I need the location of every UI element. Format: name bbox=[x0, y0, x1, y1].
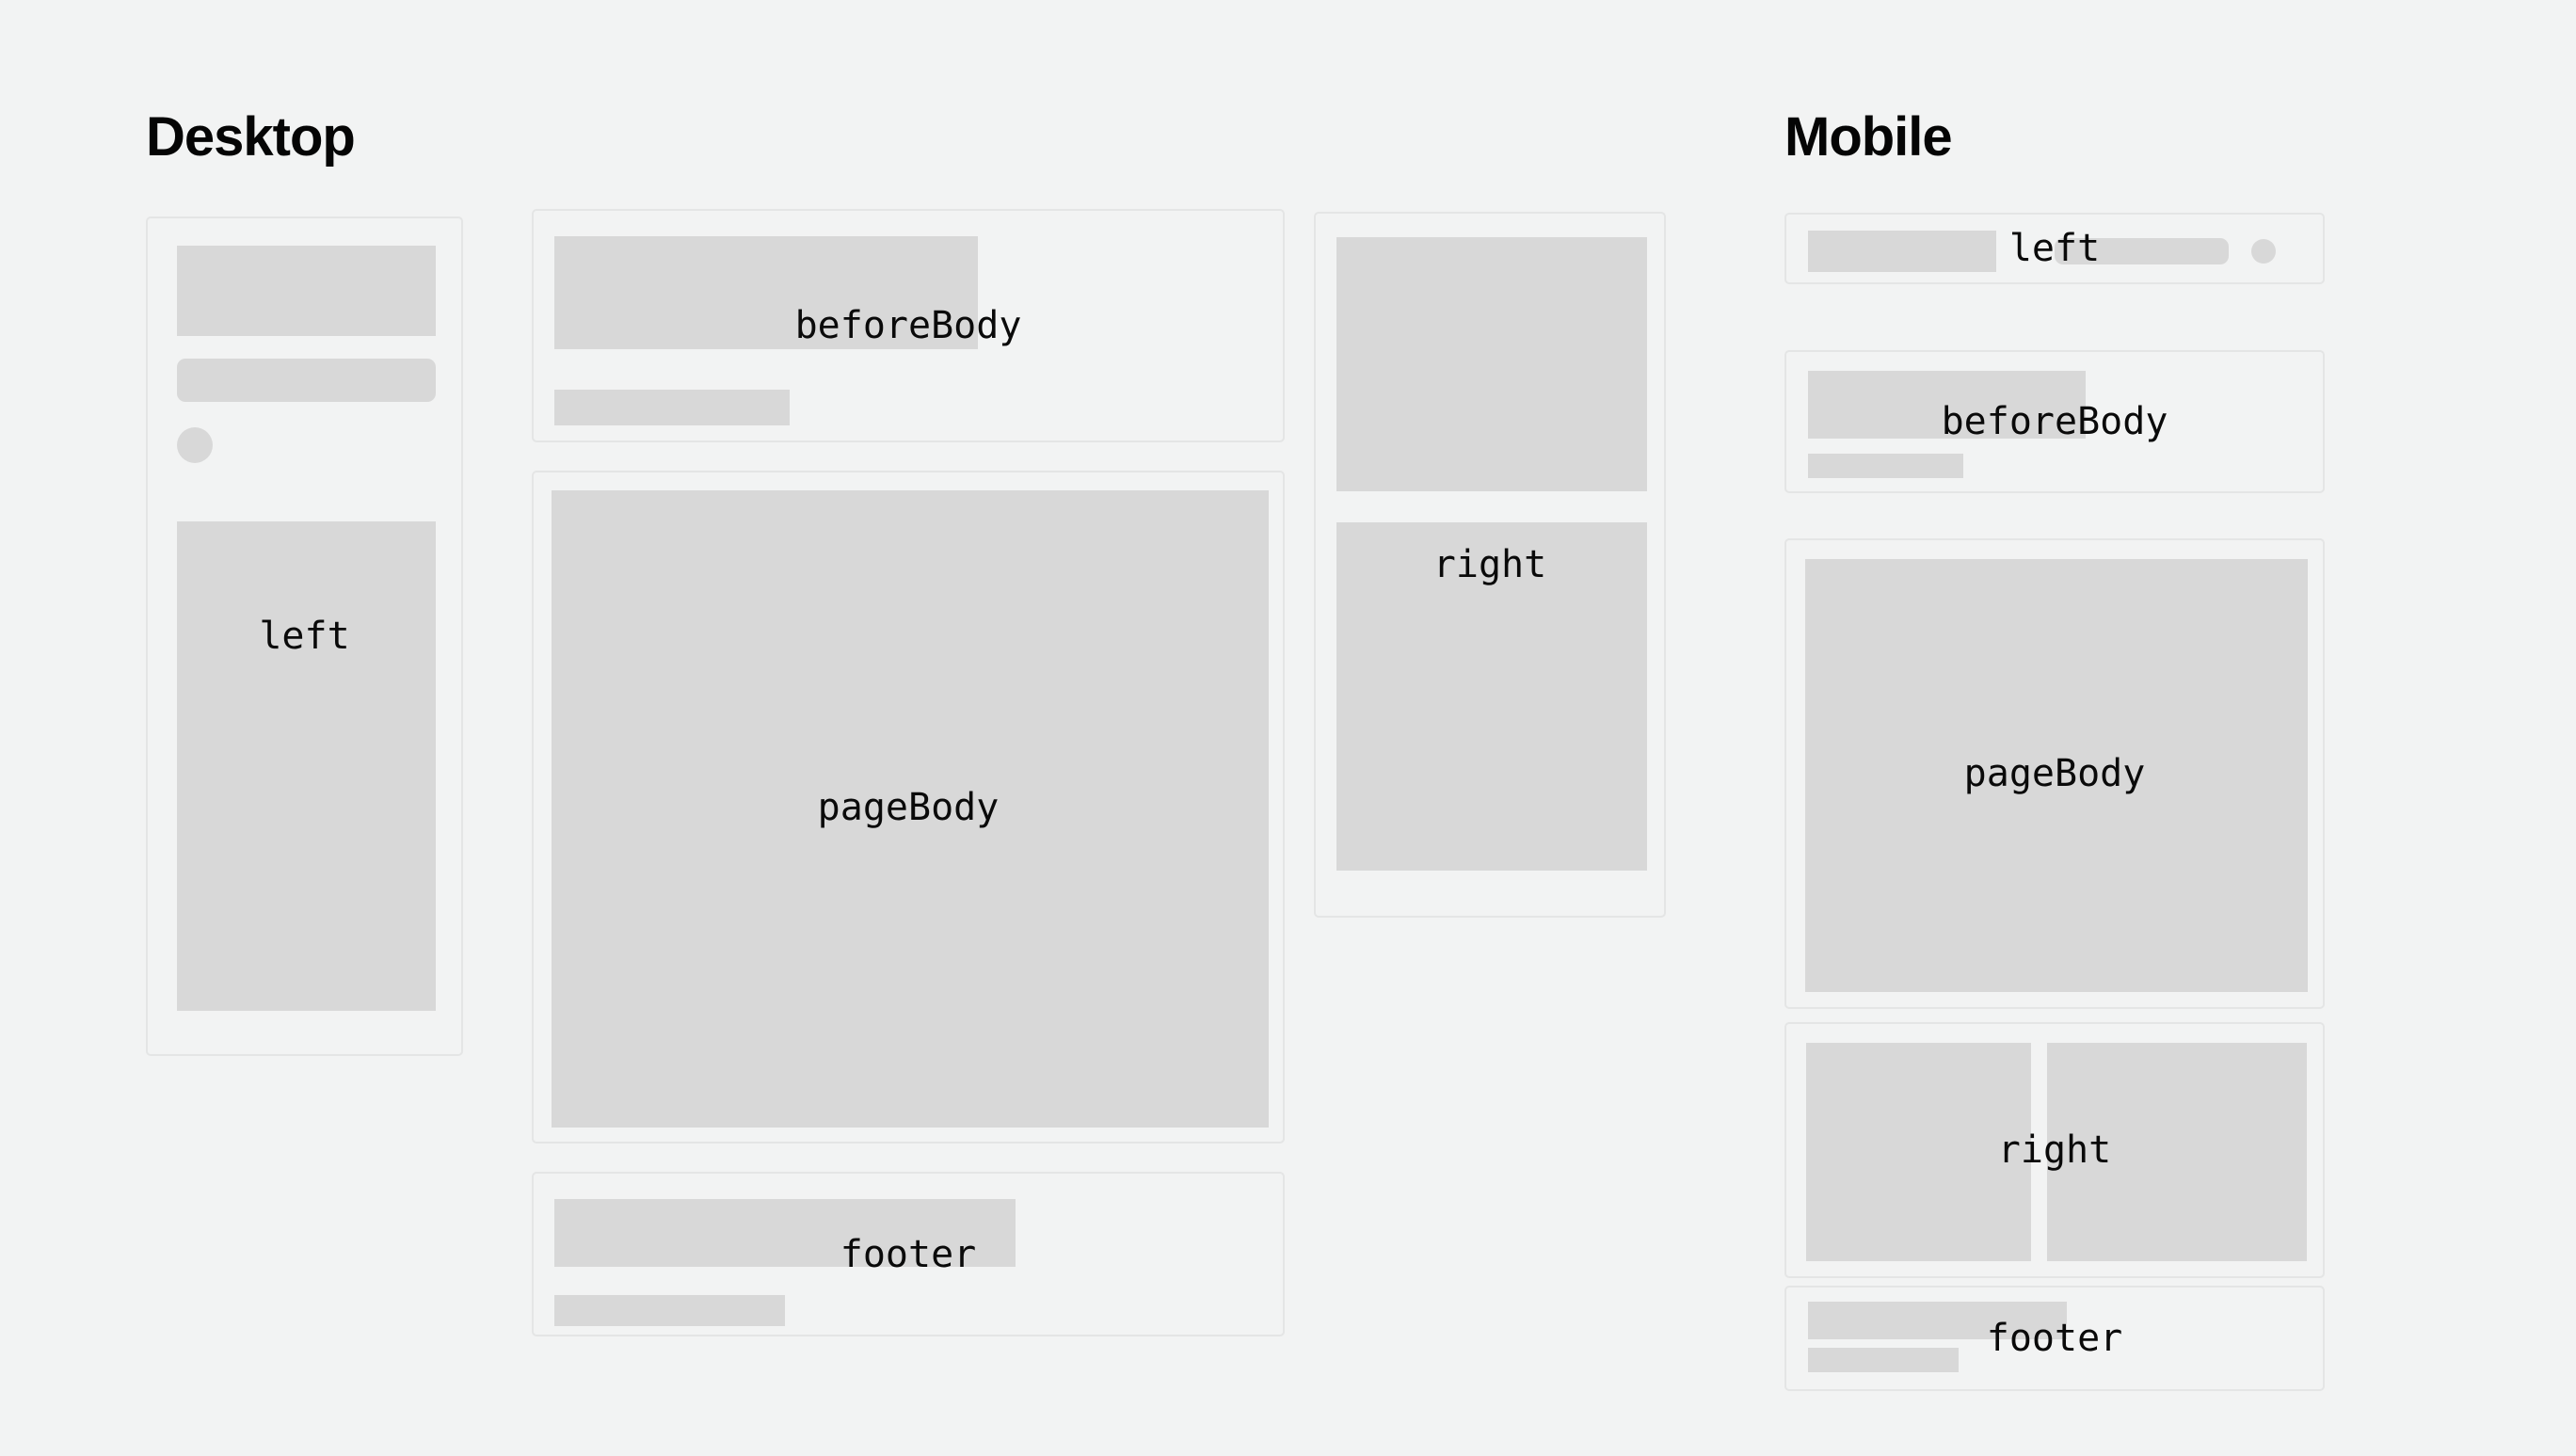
mobile-right-content bbox=[1786, 1024, 2323, 1276]
desktop-slot-beforebody-panel[interactable]: beforeBody bbox=[532, 209, 1285, 442]
desktop-slot-right-panel[interactable]: right bbox=[1314, 212, 1666, 918]
placeholder-block bbox=[1336, 522, 1647, 871]
mobile-left-content bbox=[1786, 215, 2323, 282]
layout-slots-preview: { "theme": { "page_background": "#f2f3f3… bbox=[0, 0, 2576, 1456]
placeholder-block bbox=[1336, 237, 1647, 491]
placeholder-block bbox=[2047, 1043, 2307, 1261]
mobile-footer-content bbox=[1786, 1288, 2323, 1389]
placeholder-block bbox=[1808, 371, 2086, 439]
mobile-section-title: Mobile bbox=[1784, 110, 1952, 165]
mobile-beforebody-content bbox=[1786, 352, 2323, 491]
placeholder-bar bbox=[2055, 238, 2229, 264]
desktop-right-content bbox=[1316, 214, 1664, 916]
desktop-beforebody-content bbox=[534, 211, 1283, 440]
placeholder-block bbox=[1808, 1302, 2067, 1339]
placeholder-block-large bbox=[552, 490, 1269, 1128]
desktop-left-content bbox=[148, 218, 461, 1054]
placeholder-block bbox=[177, 246, 436, 336]
desktop-slot-left-panel[interactable]: left bbox=[146, 216, 463, 1056]
mobile-slot-footer-panel[interactable]: footer bbox=[1784, 1286, 2325, 1391]
mobile-slot-beforebody-panel[interactable]: beforeBody bbox=[1784, 350, 2325, 493]
mobile-slot-pagebody-panel[interactable]: pageBody bbox=[1784, 538, 2325, 1009]
placeholder-block-large bbox=[1805, 559, 2308, 992]
placeholder-block bbox=[1806, 1043, 2031, 1261]
placeholder-bar bbox=[554, 390, 790, 425]
placeholder-dot bbox=[2251, 239, 2276, 264]
desktop-slot-footer-panel[interactable]: footer bbox=[532, 1172, 1285, 1336]
placeholder-bar bbox=[554, 1295, 785, 1326]
placeholder-bar bbox=[177, 359, 436, 402]
desktop-footer-content bbox=[534, 1174, 1283, 1335]
placeholder-block bbox=[1808, 231, 1996, 272]
placeholder-block bbox=[554, 236, 978, 349]
placeholder-bar bbox=[1808, 454, 1963, 478]
mobile-slot-left-panel[interactable]: left bbox=[1784, 213, 2325, 284]
placeholder-bar bbox=[1808, 1348, 1959, 1372]
desktop-pagebody-content bbox=[534, 472, 1283, 1142]
desktop-section-title: Desktop bbox=[146, 110, 355, 165]
placeholder-dot bbox=[177, 427, 213, 463]
desktop-slot-pagebody-panel[interactable]: pageBody bbox=[532, 471, 1285, 1144]
placeholder-block-tall bbox=[177, 521, 436, 1011]
placeholder-block bbox=[554, 1199, 1016, 1267]
mobile-slot-right-panel[interactable]: right bbox=[1784, 1022, 2325, 1278]
mobile-pagebody-content bbox=[1786, 540, 2323, 1007]
